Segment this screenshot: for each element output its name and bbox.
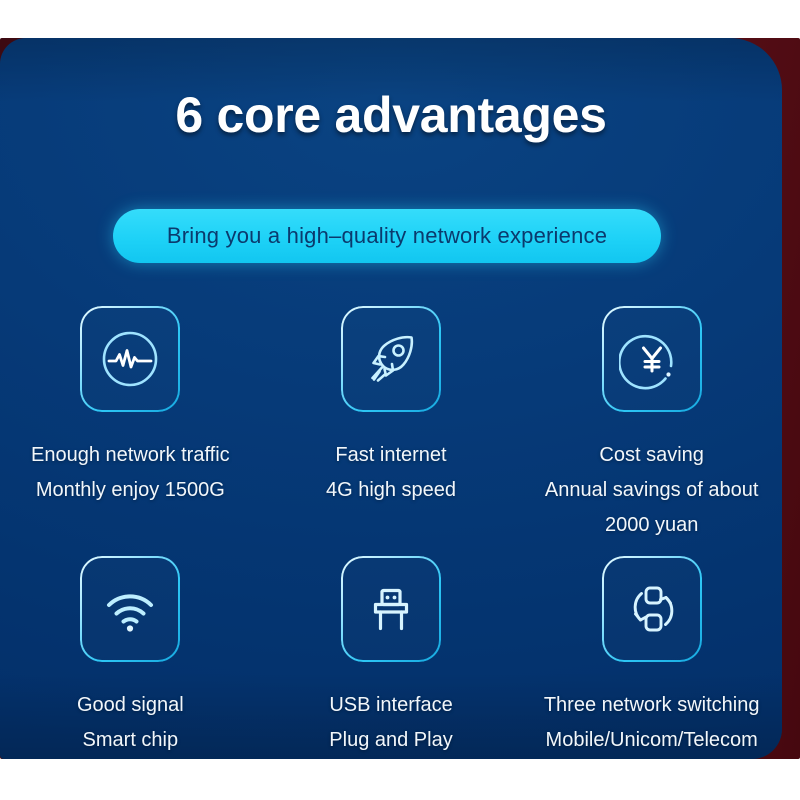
feature-detail: Mobile/Unicom/Telecom — [521, 723, 782, 758]
features-row-top: Enough network traffic Monthly enjoy 150… — [0, 306, 782, 556]
feature-captions: Fast internet 4G high speed — [261, 438, 522, 508]
feature-title: Enough network traffic — [0, 438, 261, 473]
blue-panel: 6 core advantages Bring you a high–quali… — [0, 38, 782, 759]
feature-title: Good signal — [0, 688, 261, 723]
feature-title: USB interface — [261, 688, 522, 723]
feature-card-usb-interface: USB interface Plug and Play — [261, 556, 522, 759]
feature-title: Fast internet — [261, 438, 522, 473]
feature-card-fast-internet: Fast internet 4G high speed — [261, 306, 522, 556]
advantages-poster: 6 core advantages Bring you a high–quali… — [0, 0, 800, 800]
icon-box — [602, 556, 702, 662]
features-row-bottom: Good signal Smart chip — [0, 556, 782, 759]
icon-box — [602, 306, 702, 412]
feature-detail: Smart chip — [0, 723, 261, 758]
icon-box — [341, 306, 441, 412]
feature-card-network-traffic: Enough network traffic Monthly enjoy 150… — [0, 306, 261, 556]
feature-card-network-switching: Three network switching Mobile/Unicom/Te… — [521, 556, 782, 759]
feature-detail: Plug and Play — [261, 723, 522, 758]
subtitle-pill-label: Bring you a high–quality network experie… — [167, 223, 607, 249]
wifi-signal-icon — [97, 576, 163, 642]
rocket-icon — [358, 326, 424, 392]
features-grid: Enough network traffic Monthly enjoy 150… — [0, 306, 782, 759]
icon-box — [80, 556, 180, 662]
pulse-circle-icon — [97, 326, 163, 392]
yuan-circle-icon — [619, 326, 685, 392]
page-title: 6 core advantages — [0, 86, 782, 144]
feature-detail: Monthly enjoy 1500G — [0, 473, 261, 508]
feature-title: Three network switching — [521, 688, 782, 723]
feature-detail: Annual savings of about — [521, 473, 782, 508]
feature-captions: Three network switching Mobile/Unicom/Te… — [521, 688, 782, 758]
feature-captions: USB interface Plug and Play — [261, 688, 522, 758]
icon-box — [80, 306, 180, 412]
feature-card-cost-saving: Cost saving Annual savings of about 2000… — [521, 306, 782, 556]
network-switch-icon — [619, 576, 685, 642]
feature-detail-line2: 2000 yuan — [521, 508, 782, 543]
icon-box — [341, 556, 441, 662]
feature-captions: Good signal Smart chip — [0, 688, 261, 758]
feature-detail: 4G high speed — [261, 473, 522, 508]
subtitle-pill: Bring you a high–quality network experie… — [113, 209, 661, 263]
feature-captions: Cost saving Annual savings of about 2000… — [521, 438, 782, 543]
feature-captions: Enough network traffic Monthly enjoy 150… — [0, 438, 261, 508]
feature-title: Cost saving — [521, 438, 782, 473]
feature-card-good-signal: Good signal Smart chip — [0, 556, 261, 759]
usb-connector-icon — [358, 576, 424, 642]
